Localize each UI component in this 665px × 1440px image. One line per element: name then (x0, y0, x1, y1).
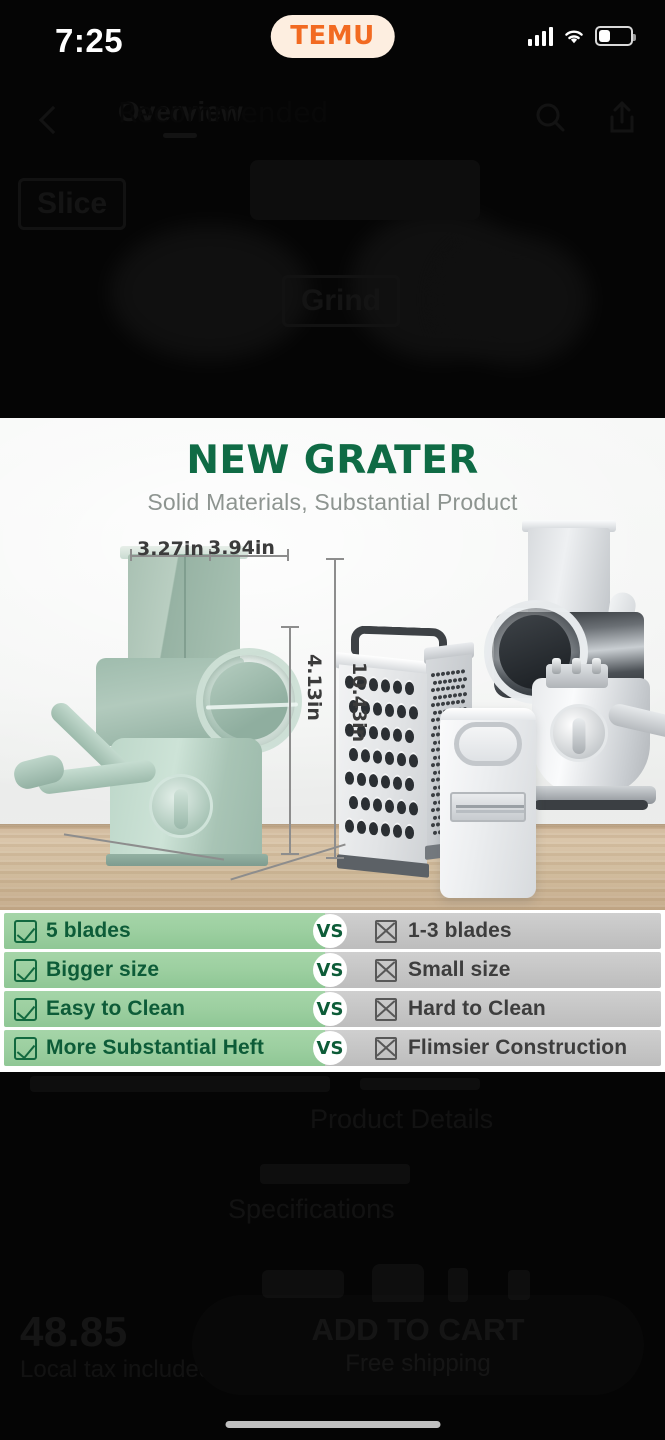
tab-recommended[interactable]: Recommended (118, 96, 328, 139)
checkbox-checked-icon (14, 920, 37, 943)
headline-new-grater: NEW GRATER (0, 438, 665, 483)
subheadline: Solid Materials, Substantial Product (0, 489, 665, 516)
vs-badge: VS (313, 914, 347, 948)
navigation-bar: Overview Recommended (0, 88, 665, 158)
con-cell: Small size (325, 952, 661, 988)
battery-icon (595, 26, 633, 46)
checkbox-x-icon (375, 959, 397, 982)
con-label: Small size (408, 958, 511, 982)
home-indicator[interactable] (225, 1421, 440, 1428)
checkbox-x-icon (375, 920, 397, 943)
comparison-table: 5 blades VS 1-3 blades Bigger size VS Sm… (0, 910, 665, 1072)
checkbox-x-icon (375, 998, 397, 1021)
share-icon[interactable] (607, 100, 637, 134)
dimension-label-hopper-right: 3.94in (208, 537, 275, 559)
con-label: 1-3 blades (408, 919, 512, 943)
image-headline-block: NEW GRATER Solid Materials, Substantial … (0, 438, 665, 516)
bg-label-details: Product Details (310, 1104, 493, 1135)
dimension-label-hopper-left: 3.27in (137, 538, 204, 560)
price-subtext: Local tax included (20, 1356, 212, 1384)
con-cell: Hard to Clean (325, 991, 661, 1027)
badge-grind: Grind (282, 275, 400, 327)
table-row: Bigger size VS Small size (4, 952, 661, 988)
add-to-cart-button[interactable]: ADD TO CART Free shipping (192, 1295, 644, 1395)
table-row: More Substantial Heft VS Flimsier Constr… (4, 1030, 661, 1066)
dimmed-background-top: Slice Grind (0, 150, 665, 418)
checkbox-checked-icon (14, 959, 37, 982)
price-value: 48.85 (20, 1308, 128, 1356)
pro-label: Easy to Clean (46, 997, 185, 1021)
dimension-label-drum-height: 4.13in (303, 654, 325, 721)
status-bar-indicators (528, 26, 633, 46)
dimension-label-total-height: 10.43in (348, 662, 370, 742)
product-detail-image[interactable]: NEW GRATER Solid Materials, Substantial … (0, 418, 665, 1072)
vs-badge: VS (313, 992, 347, 1026)
temu-brand-label: TEMU (290, 21, 374, 51)
vs-badge: VS (313, 1031, 347, 1065)
purchase-bottom-bar: 48.85 Local tax included ADD TO CART Fre… (0, 1290, 665, 1440)
checkbox-checked-icon (14, 998, 37, 1021)
temu-brand-pill: TEMU (270, 15, 394, 58)
table-row: 5 blades VS 1-3 blades (4, 913, 661, 949)
bg-label-specs: Specifications (228, 1194, 395, 1225)
checkbox-checked-icon (14, 1037, 37, 1060)
nav-tab-list: Overview Recommended (118, 96, 243, 138)
table-row: Easy to Clean VS Hard to Clean (4, 991, 661, 1027)
dimmed-background-bottom: Product Details Specifications (0, 1072, 665, 1302)
product-photo-scene: NEW GRATER Solid Materials, Substantial … (0, 418, 665, 910)
pro-label: 5 blades (46, 919, 131, 943)
vs-badge: VS (313, 953, 347, 987)
con-cell: 1-3 blades (325, 913, 661, 949)
pro-label: Bigger size (46, 958, 159, 982)
cellular-signal-icon (528, 26, 553, 46)
con-cell: Flimsier Construction (325, 1030, 661, 1066)
back-button[interactable] (36, 102, 62, 142)
wifi-icon (562, 26, 586, 46)
pro-cell: Easy to Clean (4, 991, 325, 1027)
cta-primary-label: ADD TO CART (312, 1312, 525, 1348)
con-label: Flimsier Construction (408, 1036, 627, 1060)
competitor-mandoline-slicer (440, 708, 536, 898)
checkbox-x-icon (375, 1037, 397, 1060)
status-bar: 7:25 TEMU (0, 0, 665, 80)
pro-cell: Bigger size (4, 952, 325, 988)
nav-action-icons (533, 100, 637, 134)
mint-rotary-grater (10, 536, 300, 876)
cta-secondary-label: Free shipping (345, 1350, 490, 1378)
search-icon[interactable] (533, 100, 567, 134)
pro-cell: 5 blades (4, 913, 325, 949)
pro-label: More Substantial Heft (46, 1036, 264, 1060)
con-label: Hard to Clean (408, 997, 546, 1021)
badge-slice: Slice (18, 178, 126, 230)
pro-cell: More Substantial Heft (4, 1030, 325, 1066)
status-bar-time: 7:25 (55, 22, 123, 60)
